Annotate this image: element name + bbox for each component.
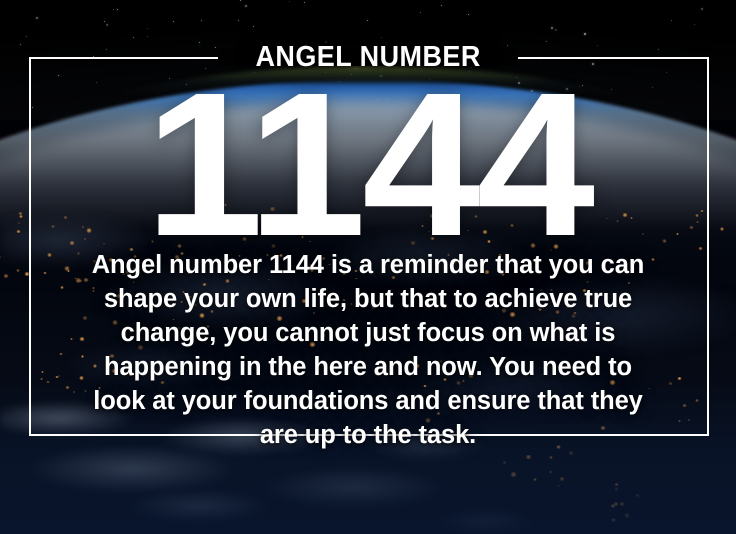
description-line: Angel number 1144 is a reminder that you…: [70, 248, 666, 282]
description-line: happening in the here and now. You need …: [70, 350, 666, 384]
description-line: shape your own life, but that to achieve…: [70, 282, 666, 316]
city-light: [43, 272, 47, 275]
angel-number-value: 1144: [0, 62, 736, 267]
description-line: are up to the task.: [70, 418, 666, 452]
city-light: [3, 274, 9, 278]
city-light: [60, 286, 64, 289]
city-light: [24, 272, 30, 276]
description-line: look at your foundations and ensure that…: [70, 384, 666, 418]
city-light: [16, 269, 21, 272]
angel-number-poster: ANGEL NUMBER 1144 Angel number 1144 is a…: [0, 0, 736, 534]
description-line: change, you cannot just focus on what is: [70, 316, 666, 350]
angel-number-description: Angel number 1144 is a reminder that you…: [70, 248, 666, 452]
